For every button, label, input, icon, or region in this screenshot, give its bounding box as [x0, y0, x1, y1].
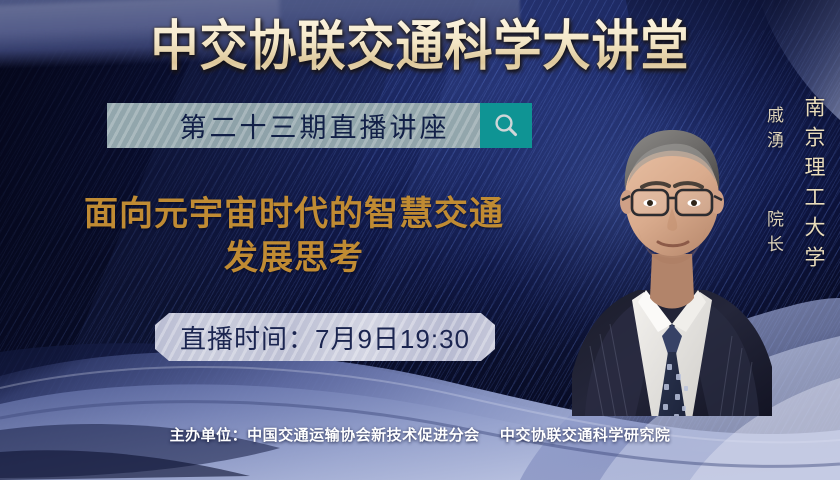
speaker-portrait [572, 86, 758, 416]
speaker-organization: 南京理工大学 [798, 96, 828, 276]
broadcast-time-label: 直播时间：7月9日19:30 [180, 319, 470, 356]
speaker-name-title: 戚湧 院长 [761, 106, 786, 260]
lecture-title-line-1: 面向元宇宙时代的智慧交通 [84, 195, 504, 233]
series-banner: 第二十三期直播讲座 [107, 103, 532, 148]
broadcast-time-badge: 直播时间：7月9日19:30 [155, 313, 495, 361]
page-title: 中交协联交通科学大讲堂 [0, 14, 840, 81]
search-icon [491, 111, 521, 141]
series-banner-body: 第二十三期直播讲座 [107, 103, 480, 148]
lecture-title: 面向元宇宙时代的智慧交通 发展思考 [34, 192, 554, 280]
series-label: 第二十三期直播讲座 [138, 106, 450, 145]
search-button[interactable] [480, 103, 532, 148]
livestream-poster: 中交协联交通科学大讲堂 第二十三期直播讲座 面向元宇宙时代的智慧交通 发展思考 … [0, 0, 840, 480]
organizer-footer: 主办单位：中国交通运输协会新技术促进分会 中交协联交通科学研究院 [0, 424, 840, 445]
lecture-title-line-2: 发展思考 [34, 236, 554, 280]
